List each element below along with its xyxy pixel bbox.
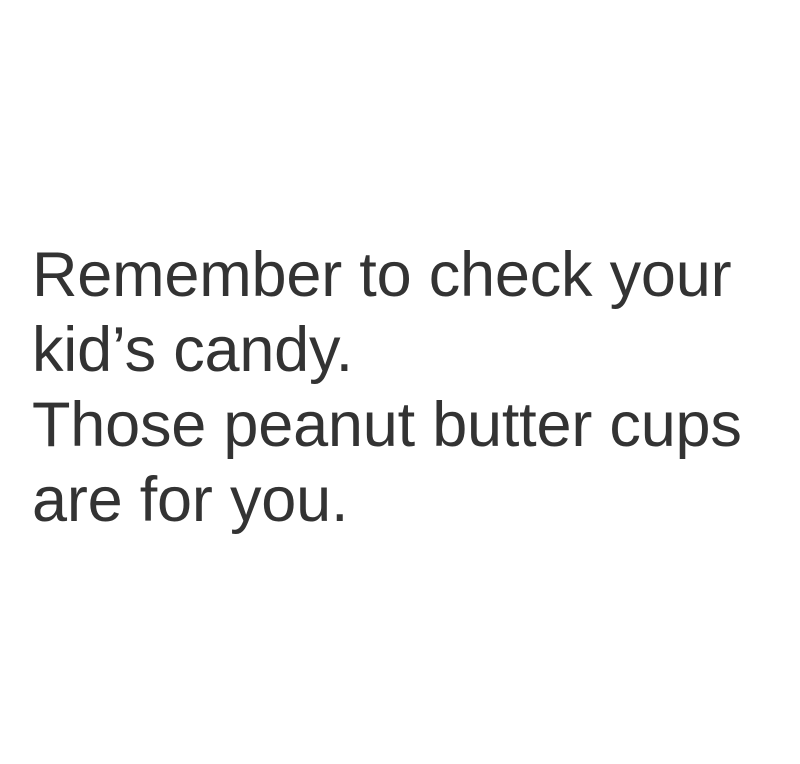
quote-text-block: Remember to check your kid’s candy. Thos… — [32, 238, 772, 538]
quote-line-1: Remember to check your — [32, 238, 772, 313]
quote-line-3: Those peanut butter cups — [32, 388, 772, 463]
quote-line-2: kid’s candy. — [32, 313, 772, 388]
meme-canvas: Remember to check your kid’s candy. Thos… — [0, 0, 800, 764]
quote-line-4: are for you. — [32, 463, 772, 538]
